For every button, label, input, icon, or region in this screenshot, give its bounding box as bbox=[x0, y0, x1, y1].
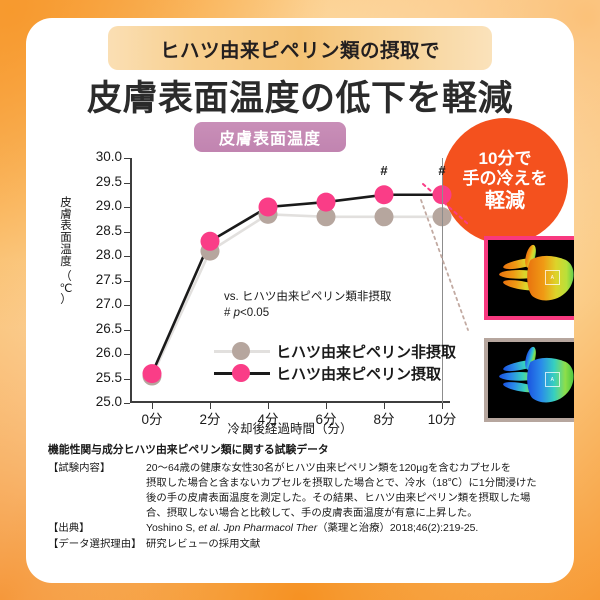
data-point-0-4 bbox=[375, 207, 394, 226]
y-tick-mark bbox=[124, 330, 130, 331]
hash-symbol: # bbox=[224, 307, 234, 319]
y-tick-label: 26.0 bbox=[80, 345, 122, 360]
y-tick-label: 25.5 bbox=[80, 370, 122, 385]
y-tick-mark bbox=[124, 379, 130, 380]
eyebrow-text: ヒハツ由来ピペリン類の摂取で bbox=[160, 34, 440, 63]
data-point-1-1 bbox=[201, 232, 220, 251]
thermal-top-inner: A bbox=[488, 240, 574, 316]
y-tick-mark bbox=[124, 207, 130, 208]
significance-marker: # bbox=[438, 163, 445, 178]
y-tick-mark bbox=[124, 281, 130, 282]
footnote-source-value: Yoshino S, et al. Jpn Pharmacol Ther（薬理と… bbox=[146, 522, 558, 537]
legend-label-non-intake: ヒハツ由来ピペリン非摂取 bbox=[276, 341, 456, 362]
y-tick-mark bbox=[124, 232, 130, 233]
thermal-top-roi: A bbox=[545, 270, 560, 285]
footnote-content-line: 後の手の皮膚表面温度を測定した。その結果、ヒハツ由来ピペリン類を摂取した場 bbox=[146, 492, 558, 507]
y-tick-label: 28.5 bbox=[80, 223, 122, 238]
highlight-circle-badge: 10分で 手の冷えを 軽減 bbox=[442, 118, 568, 244]
hand-thermogram-cool-icon bbox=[488, 342, 574, 418]
significance-note: vs. ヒハツ由来ピペリン類非摂取 # p<0.05 bbox=[224, 290, 391, 321]
data-point-1-4 bbox=[375, 185, 394, 204]
main-card: ヒハツ由来ピペリン類の摂取で 皮膚表面温度の低下を軽減 皮膚表面温度 10分で … bbox=[26, 18, 574, 583]
significance-note-line1: vs. ヒハツ由来ピペリン類非摂取 bbox=[224, 290, 391, 306]
source-author: Yoshino S, bbox=[146, 523, 198, 534]
footnote-content-key: 【試験内容】 bbox=[48, 462, 146, 477]
y-tick-mark bbox=[124, 305, 130, 306]
thermal-bottom-inner: A bbox=[488, 342, 574, 418]
footnote-title: 機能性関与成分ヒハツ由来ピペリン類に関する試験データ bbox=[48, 443, 558, 458]
y-tick-mark bbox=[124, 403, 130, 404]
eyebrow-pill: ヒハツ由来ピペリン類の摂取で bbox=[108, 26, 492, 70]
y-tick-label: 27.0 bbox=[80, 296, 122, 311]
legend-label-intake: ヒハツ由来ピペリン摂取 bbox=[276, 363, 441, 384]
legend-dot-pink bbox=[232, 364, 250, 382]
footnote-reason-value: 研究レビューの採用文献 bbox=[146, 538, 558, 553]
y-tick-label: 29.0 bbox=[80, 198, 122, 213]
source-journal: et al. Jpn Pharmacol Ther bbox=[198, 523, 317, 534]
y-tick-label: 27.5 bbox=[80, 272, 122, 287]
y-tick-label: 26.5 bbox=[80, 321, 122, 336]
highlight-line-2: 手の冷えを bbox=[463, 169, 548, 189]
data-point-1-2 bbox=[259, 198, 278, 217]
significance-marker: # bbox=[380, 163, 387, 178]
significance-note-line2: # p<0.05 bbox=[224, 306, 391, 322]
legend-key-intake bbox=[214, 366, 270, 380]
y-tick-mark bbox=[124, 256, 130, 257]
y-tick-label: 28.0 bbox=[80, 247, 122, 262]
thermal-image-non-intake: A bbox=[484, 338, 574, 422]
footnote-content-line: 摂取した場合と含まないカプセルを摂取した場合とで、冷水（18℃）に1分間浸けた bbox=[146, 477, 558, 492]
thermal-bottom-roi: A bbox=[545, 372, 560, 387]
footnote-content-row: 【試験内容】 20〜64歳の健康な女性30名がヒハツ由来ピペリン類を120µgを… bbox=[48, 462, 558, 521]
data-point-1-0 bbox=[143, 364, 162, 383]
hand-thermogram-warm-icon bbox=[488, 240, 574, 316]
footnote-source-key: 【出典】 bbox=[48, 522, 146, 537]
legend-key-non-intake bbox=[214, 344, 270, 358]
footnote-content-line: 合、摂取しない場合と比較して、手の皮膚表面温度が有意に上昇した。 bbox=[146, 507, 558, 522]
footnote-source-row: 【出典】 Yoshino S, et al. Jpn Pharmacol The… bbox=[48, 522, 558, 537]
chart: 皮膚表面温度（℃） 30.029.529.028.528.027.527.026… bbox=[34, 118, 454, 436]
legend-dot-gray bbox=[232, 342, 250, 360]
page-title: 皮膚表面温度の低下を軽減 bbox=[26, 70, 574, 121]
footnote-reason-row: 【データ選択理由】 研究レビューの採用文献 bbox=[48, 538, 558, 553]
footnote-content-line: 20〜64歳の健康な女性30名がヒハツ由来ピペリン類を120µgを含むカプセルを bbox=[146, 462, 558, 477]
y-axis-ticks: 30.029.529.028.528.027.527.026.526.025.5… bbox=[70, 118, 122, 436]
chart-legend: ヒハツ由来ピペリン非摂取 ヒハツ由来ピペリン摂取 bbox=[214, 340, 456, 384]
source-citation: （薬理と治療）2018;46(2):219-25. bbox=[317, 523, 478, 534]
y-tick-label: 25.0 bbox=[80, 394, 122, 409]
footnote: 機能性関与成分ヒハツ由来ピペリン類に関する試験データ 【試験内容】 20〜64歳… bbox=[48, 443, 558, 553]
data-point-1-3 bbox=[317, 193, 336, 212]
footnote-reason-key: 【データ選択理由】 bbox=[48, 538, 146, 553]
y-tick-mark bbox=[124, 354, 130, 355]
legend-item-intake: ヒハツ由来ピペリン摂取 bbox=[214, 362, 456, 384]
y-tick-mark bbox=[124, 183, 130, 184]
y-tick-label: 30.0 bbox=[80, 149, 122, 164]
y-tick-mark bbox=[124, 158, 130, 159]
highlight-line-3: 軽減 bbox=[485, 190, 525, 214]
legend-item-non-intake: ヒハツ由来ピペリン非摂取 bbox=[214, 340, 456, 362]
y-tick-label: 29.5 bbox=[80, 174, 122, 189]
footnote-content-value: 20〜64歳の健康な女性30名がヒハツ由来ピペリン類を120µgを含むカプセルを… bbox=[146, 462, 558, 521]
x-axis-title: 冷却後経過時間（分） bbox=[130, 418, 450, 437]
p-threshold: <0.05 bbox=[240, 307, 269, 319]
highlight-line-1: 10分で bbox=[479, 149, 532, 169]
thermal-image-intake: A bbox=[484, 236, 574, 320]
